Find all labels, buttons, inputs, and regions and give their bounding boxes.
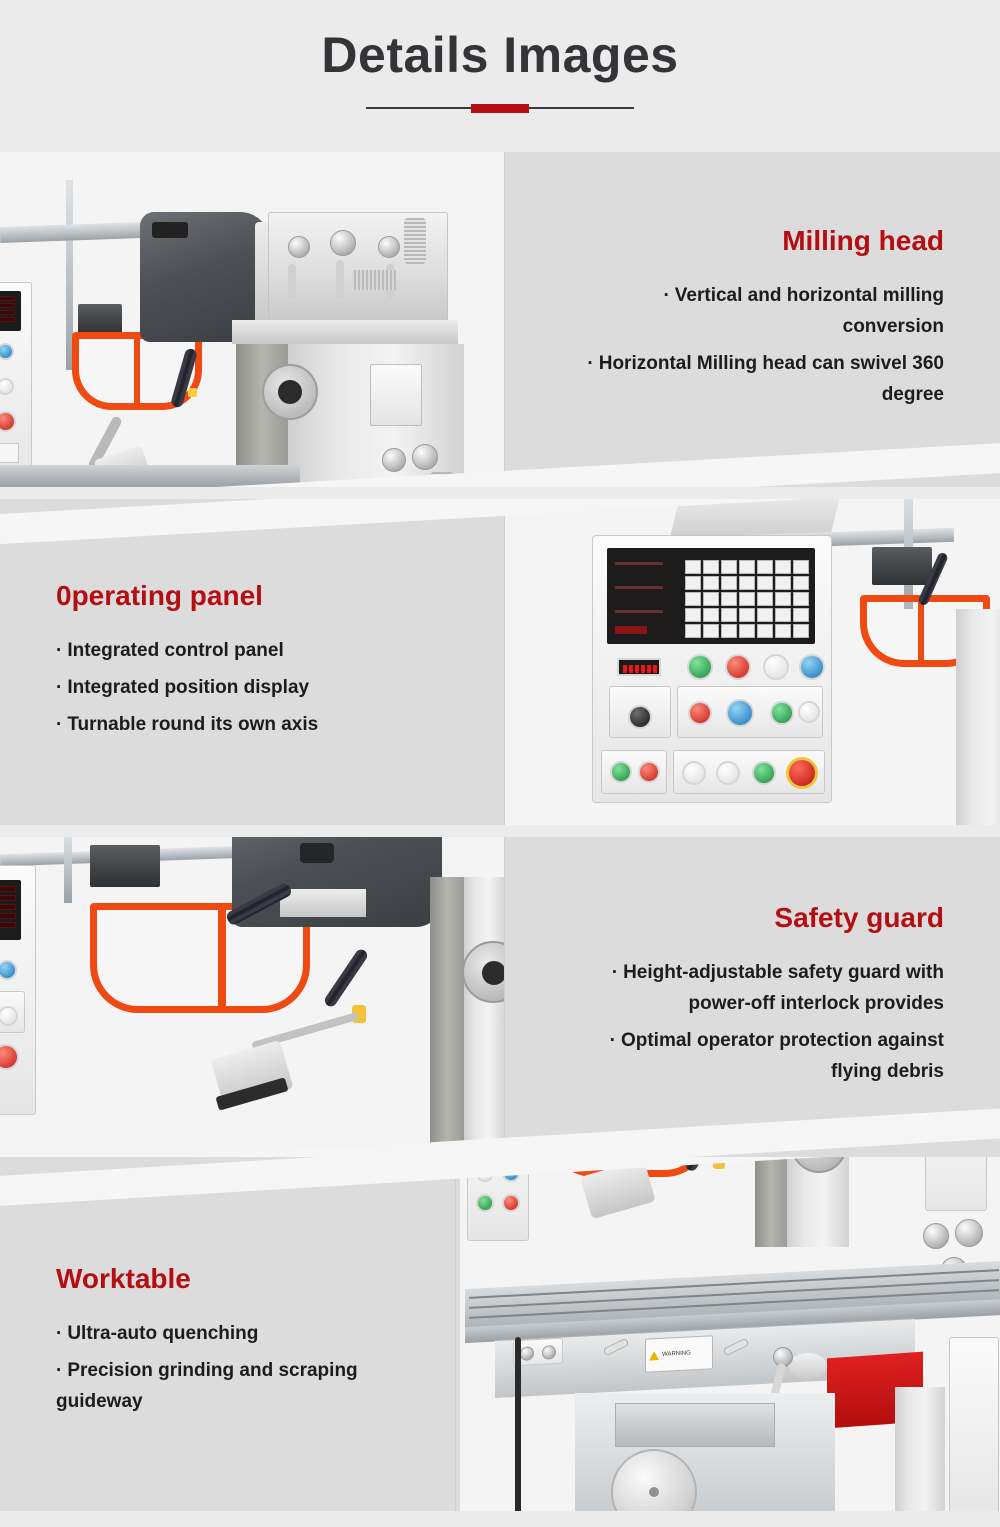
bullet-dot: · <box>610 1030 616 1051</box>
bullet-dot: · <box>56 1360 62 1381</box>
panel-button-red <box>0 411 16 432</box>
bullet-text: Turnable round its own axis <box>67 714 318 735</box>
section-title-operating-panel: 0perating panel <box>56 579 263 613</box>
bullet-item: ·Height-adjustable safety guard with pow… <box>560 957 944 1019</box>
bullet-dot: · <box>587 353 593 374</box>
bullet-text: Height-adjustable safety guard with powe… <box>623 962 944 1014</box>
bullet-item: ·Ultra-auto quenching <box>56 1318 404 1349</box>
button-red-stop <box>725 654 751 680</box>
panel-button-blue <box>0 343 14 360</box>
bullet-text: Integrated control panel <box>67 640 283 661</box>
bullet-text: Optimal operator protection against flyi… <box>621 1030 944 1082</box>
bullet-dot: · <box>56 714 62 735</box>
title-underline <box>366 104 634 112</box>
section-safety-guard: Safety guard ·Height-adjustable safety g… <box>0 837 1000 1157</box>
machine-spec-plate <box>370 364 422 426</box>
bullet-text: Ultra-auto quenching <box>67 1323 258 1344</box>
section-worktable: Worktable ·Ultra-auto quenching ·Precisi… <box>0 1157 1000 1527</box>
warning-label-text: WARNING <box>662 1350 691 1358</box>
panel-button-white <box>0 378 14 395</box>
page-header: Details Images <box>0 0 1000 152</box>
bullet-list-operating-panel: ·Integrated control panel ·Integrated po… <box>56 635 318 746</box>
machine-spec-plate <box>925 1157 987 1211</box>
title-underline-accent <box>471 104 529 113</box>
button-white <box>763 654 789 680</box>
panel-button-white <box>0 1006 18 1026</box>
section-title-safety-guard: Safety guard <box>774 901 944 935</box>
machine-photo-worktable: WARNING <box>455 1157 1000 1527</box>
bullet-list-milling-head: ·Vertical and horizontal milling convers… <box>560 280 944 416</box>
guard-bracket <box>872 547 932 585</box>
panel-divider <box>455 1157 456 1527</box>
bullet-dot: · <box>56 640 62 661</box>
warning-label: WARNING <box>645 1335 713 1373</box>
bullet-list-safety-guard: ·Height-adjustable safety guard with pow… <box>560 957 944 1093</box>
bullet-dot: · <box>663 285 669 306</box>
machine-control-panel <box>467 1157 529 1241</box>
bullet-item: ·Precision grinding and scraping guidewa… <box>56 1355 404 1417</box>
section-operating-panel: 0perating panel ·Integrated control pane… <box>0 499 1000 825</box>
section-milling-head: Milling head ·Vertical and horizontal mi… <box>0 152 1000 487</box>
section-title-worktable: Worktable <box>56 1262 191 1296</box>
page-title: Details Images <box>321 24 678 86</box>
bullet-text: Horizontal Milling head can swivel 360 d… <box>599 353 944 405</box>
bullet-dot: · <box>56 677 62 698</box>
bullet-item: ·Horizontal Milling head can swivel 360 … <box>560 348 944 410</box>
machine-control-panel <box>0 865 36 1115</box>
bullet-text: Precision grinding and scraping guideway <box>56 1360 358 1412</box>
panel-divider <box>504 499 505 825</box>
panel-button-red <box>0 1044 19 1070</box>
emergency-stop-button <box>786 757 818 789</box>
footer-band <box>0 1511 1000 1527</box>
guard-bracket <box>90 845 160 887</box>
text-panel-safety-guard: Safety guard ·Height-adjustable safety g… <box>504 837 1000 1157</box>
warning-triangle-icon <box>649 1351 659 1361</box>
bullet-item: ·Integrated position display <box>56 672 318 703</box>
machine-control-panel <box>0 282 32 482</box>
bullet-text: Vertical and horizontal milling conversi… <box>675 285 944 337</box>
machine-photo-safety-guard <box>0 837 504 1157</box>
text-panel-operating-panel: 0perating panel ·Integrated control pane… <box>0 499 496 825</box>
led-readout <box>617 658 661 676</box>
text-panel-milling-head: Milling head ·Vertical and horizontal mi… <box>504 152 1000 487</box>
bullet-item: ·Vertical and horizontal milling convers… <box>560 280 944 342</box>
machine-photo-milling-head <box>0 152 504 487</box>
dro-display <box>607 548 815 644</box>
button-green-start <box>687 654 713 680</box>
speed-selector-group <box>677 686 823 738</box>
speed-dial <box>726 699 754 727</box>
panel-divider <box>504 837 505 1157</box>
panel-button-blue <box>0 960 17 980</box>
operating-panel-enclosure <box>592 535 832 803</box>
machine-photo-operating-panel <box>504 499 1000 825</box>
bullet-item: ·Optimal operator protection against fly… <box>560 1025 944 1087</box>
bullet-text: Integrated position display <box>67 677 309 698</box>
bullet-dot: · <box>56 1323 62 1344</box>
button-blue <box>799 654 825 680</box>
section-title-milling-head: Milling head <box>782 224 944 258</box>
row-gap <box>0 487 1000 499</box>
text-panel-worktable: Worktable ·Ultra-auto quenching ·Precisi… <box>0 1157 460 1527</box>
bullet-item: ·Integrated control panel <box>56 635 318 666</box>
bullet-list-worktable: ·Ultra-auto quenching ·Precision grindin… <box>56 1318 404 1423</box>
row-gap <box>0 825 1000 837</box>
bullet-item: ·Turnable round its own axis <box>56 709 318 740</box>
selector-knob <box>628 705 652 729</box>
bullet-dot: · <box>612 962 618 983</box>
panel-divider <box>504 152 505 487</box>
